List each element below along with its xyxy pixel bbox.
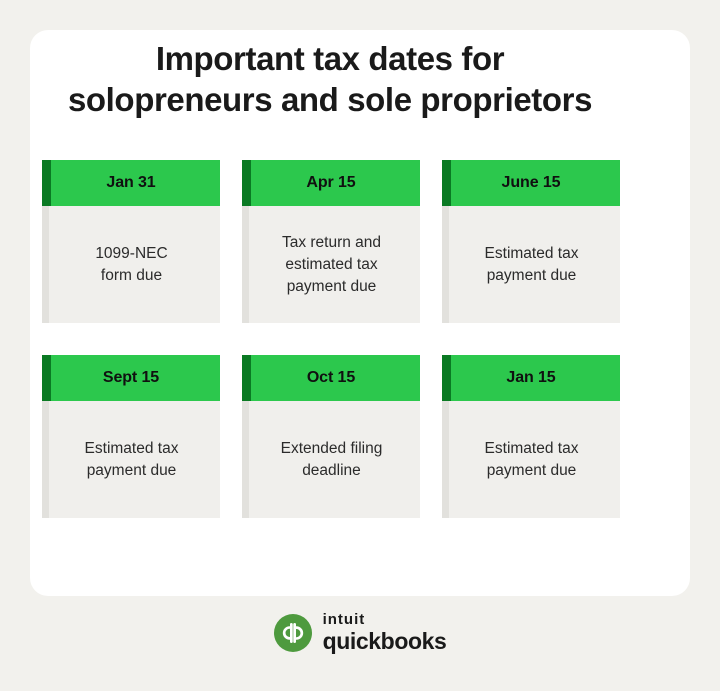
tax-date-card: Jan 31 1099-NEC form due bbox=[42, 160, 220, 323]
logo-product-quickbooks: quickbooks bbox=[323, 630, 447, 653]
tax-date-card-header: Apr 15 bbox=[242, 160, 420, 206]
page-title-line-1: Important tax dates for bbox=[40, 38, 620, 79]
tax-date-card-header: Jan 31 bbox=[42, 160, 220, 206]
tax-date-card: June 15 Estimated tax payment due bbox=[442, 160, 620, 323]
tax-date-label: Oct 15 bbox=[307, 369, 355, 387]
tax-date-description: Estimated tax payment due bbox=[85, 438, 179, 482]
quickbooks-logo: intuit quickbooks bbox=[0, 612, 720, 653]
tax-date-card-body: 1099-NEC form due bbox=[42, 206, 220, 323]
tax-date-card: Oct 15 Extended filing deadline bbox=[242, 355, 420, 518]
tax-date-card-body: Estimated tax payment due bbox=[42, 401, 220, 518]
tax-date-card-header: June 15 bbox=[442, 160, 620, 206]
tax-dates-infographic: Important tax dates for solopreneurs and… bbox=[0, 0, 720, 691]
accent-bar bbox=[442, 160, 451, 206]
tax-date-label: Jan 31 bbox=[106, 174, 155, 192]
accent-bar bbox=[42, 355, 51, 401]
tax-date-label: Apr 15 bbox=[306, 174, 355, 192]
tax-date-card: Apr 15 Tax return and estimated tax paym… bbox=[242, 160, 420, 323]
tax-date-label: Jan 15 bbox=[506, 369, 555, 387]
tax-date-card: Sept 15 Estimated tax payment due bbox=[42, 355, 220, 518]
tax-date-card-header: Jan 15 bbox=[442, 355, 620, 401]
tax-date-card-header: Oct 15 bbox=[242, 355, 420, 401]
tax-date-description: Tax return and estimated tax payment due bbox=[282, 232, 381, 298]
tax-date-label: June 15 bbox=[502, 174, 561, 192]
tax-date-card-body: Estimated tax payment due bbox=[442, 206, 620, 323]
tax-dates-grid: Jan 31 1099-NEC form due Apr 15 Tax retu… bbox=[42, 160, 620, 518]
page-title: Important tax dates for solopreneurs and… bbox=[40, 38, 620, 121]
tax-date-label: Sept 15 bbox=[103, 369, 159, 387]
logo-brand-intuit: intuit bbox=[323, 612, 447, 627]
accent-bar bbox=[242, 355, 251, 401]
tax-date-description: Extended filing deadline bbox=[281, 438, 383, 482]
tax-date-card: Jan 15 Estimated tax payment due bbox=[442, 355, 620, 518]
accent-bar bbox=[442, 355, 451, 401]
quickbooks-qb-circle-icon bbox=[274, 614, 312, 652]
accent-bar bbox=[242, 160, 251, 206]
tax-date-description: Estimated tax payment due bbox=[485, 438, 579, 482]
logo-wordmark: intuit quickbooks bbox=[323, 612, 447, 653]
accent-bar bbox=[42, 160, 51, 206]
tax-date-description: Estimated tax payment due bbox=[485, 243, 579, 287]
page-title-line-2: solopreneurs and sole proprietors bbox=[40, 79, 620, 120]
tax-date-description: 1099-NEC form due bbox=[95, 243, 167, 287]
tax-date-card-body: Estimated tax payment due bbox=[442, 401, 620, 518]
tax-date-card-header: Sept 15 bbox=[42, 355, 220, 401]
tax-date-card-body: Extended filing deadline bbox=[242, 401, 420, 518]
tax-date-card-body: Tax return and estimated tax payment due bbox=[242, 206, 420, 323]
